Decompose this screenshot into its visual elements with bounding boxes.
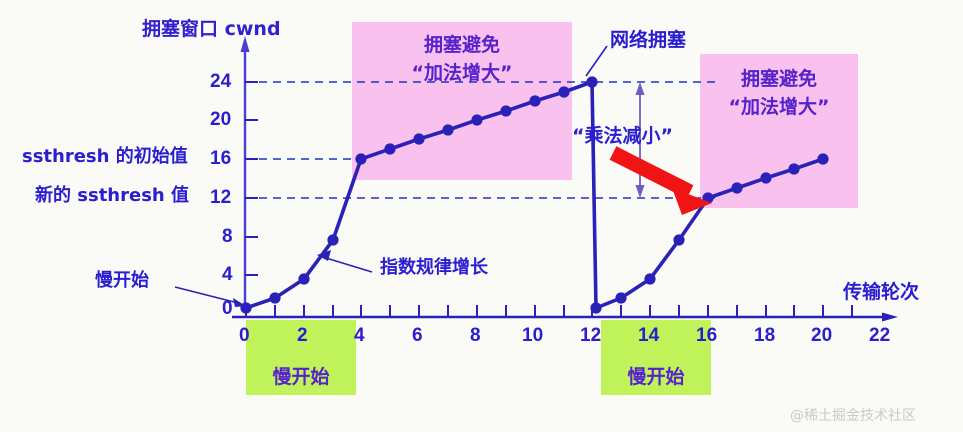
label-ssthresh-initial: ssthresh 的初始值 [22,148,188,166]
label-multiplicative-decrease: “乘法减小” [572,127,673,146]
label-congestion-avoidance-2-line1: 拥塞避免 [700,64,858,91]
label-exponential-growth: 指数规律增长 [380,259,488,277]
x-tick-14: 14 [638,326,659,345]
label-congestion-avoidance-1-line2: “加法增大” [352,58,572,85]
label-congestion-avoidance-1-line1: 拥塞避免 [352,30,572,57]
label-slow-start-leader: 慢开始 [95,272,149,290]
x-axis-ticks [246,305,852,317]
x-tick-16: 16 [696,326,717,345]
x-axis-title: 传输轮次 [843,283,919,302]
x-tick-22: 22 [869,326,890,345]
x-tick-18: 18 [754,326,775,345]
tcp-congestion-chart: 拥塞窗口 cwnd 传输轮次 24 20 16 12 8 4 0 0 2 4 6… [0,0,963,432]
y-axis-ticks [245,82,258,275]
red-arrow-multiplicative-decrease [613,153,712,215]
leader-slow-start [175,287,246,307]
label-slow-start-box-2: 慢开始 [601,362,711,389]
x-tick-20: 20 [811,326,832,345]
y-tick-20: 20 [210,110,231,129]
y-axis-title: 拥塞窗口 cwnd [142,20,281,39]
leader-exponential-growth [317,250,372,272]
label-congestion-avoidance-2-line2: “加法增大” [700,92,858,119]
watermark: @稀土掘金技术社区 [790,405,916,425]
x-tick-4: 4 [354,326,365,345]
x-tick-2: 2 [297,326,308,345]
y-tick-24: 24 [210,72,231,91]
y-axis [241,36,250,310]
x-tick-8: 8 [470,326,481,345]
y-tick-0: 0 [222,299,233,318]
label-ssthresh-new: 新的 ssthresh 值 [35,187,189,205]
x-tick-6: 6 [412,326,423,345]
x-tick-0: 0 [239,326,250,345]
x-tick-10: 10 [522,326,543,345]
y-tick-12: 12 [210,188,231,207]
x-tick-12: 12 [580,326,601,345]
y-tick-16: 16 [210,149,231,168]
leader-network-congestion [586,46,607,76]
label-slow-start-box-1: 慢开始 [246,362,356,389]
label-network-congestion: 网络拥塞 [610,31,686,50]
y-tick-8: 8 [222,227,233,246]
y-tick-4: 4 [222,265,233,284]
